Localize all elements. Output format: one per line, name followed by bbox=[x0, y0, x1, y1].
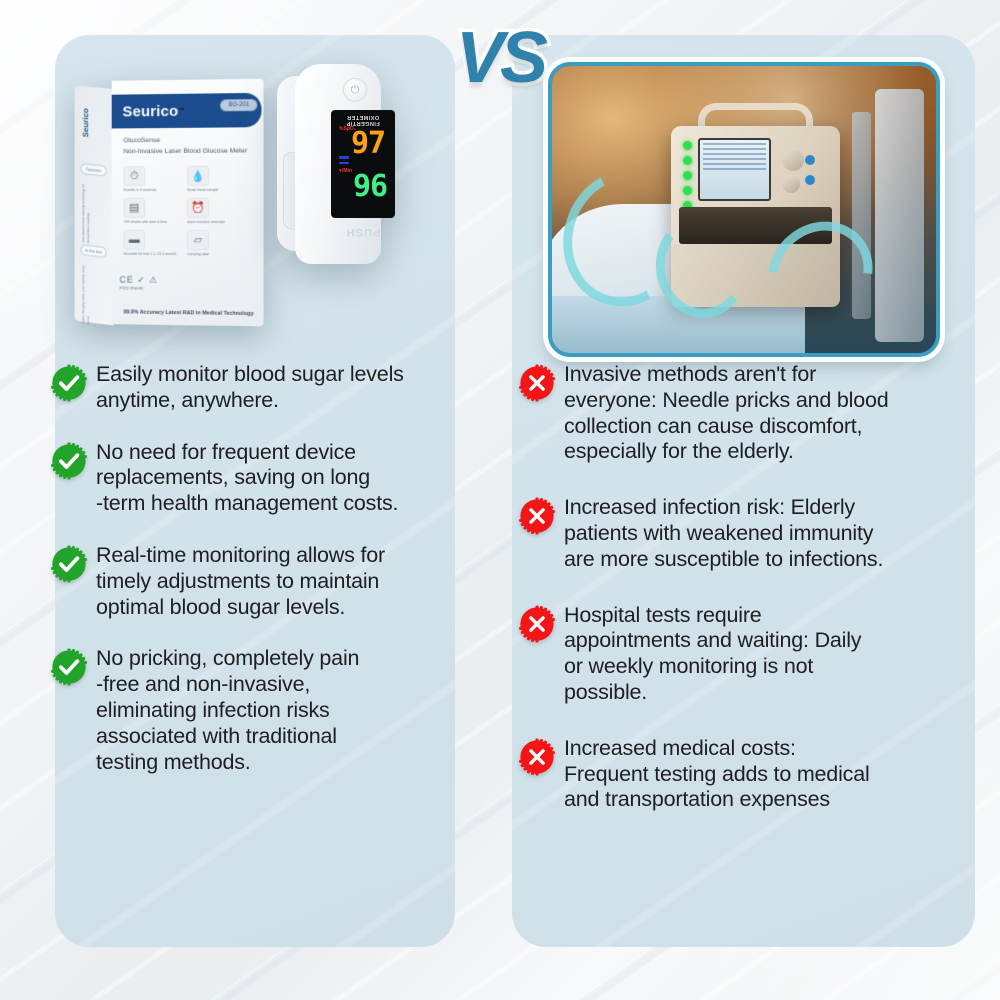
box-feature-label: 199 results with date & time bbox=[123, 220, 178, 225]
device-front-housing: ⏻ FINGERTIP OXIMETER %SpO₂ 97 ♥/Min 96 P… bbox=[295, 64, 381, 264]
green-check-badge-icon bbox=[50, 364, 88, 402]
product-line-name: GlucoSense bbox=[123, 135, 247, 146]
box-feature-item: ⏱ Results in 5 seconds bbox=[123, 166, 178, 193]
list-item-text: Easily monitor blood sugar levels anytim… bbox=[96, 362, 404, 414]
box-feature-item: ⏰ Alarm function reminder bbox=[187, 198, 243, 225]
monitor-screen bbox=[698, 138, 771, 201]
green-check-badge-icon bbox=[50, 545, 88, 583]
pros-list: Easily monitor blood sugar levels anytim… bbox=[50, 362, 460, 801]
list-item: No pricking, completely pain -free and n… bbox=[50, 646, 460, 775]
product-name-block: GlucoSense Non-Invasive Laser Blood Gluc… bbox=[123, 135, 247, 157]
model-number-badge: BG-201 bbox=[220, 99, 257, 112]
list-item-text: Real-time monitoring allows for timely a… bbox=[96, 543, 385, 620]
product-box: Seurico Features Non-invasive laser sens… bbox=[75, 79, 264, 327]
alarm-clock-icon: ⏰ bbox=[187, 198, 209, 218]
green-check-badge-icon bbox=[50, 442, 88, 480]
box-feature-item: ▱ Carrying case bbox=[187, 230, 243, 257]
box-side-pill-features: Features bbox=[80, 163, 106, 177]
list-item: Increased infection risk: Elderly patien… bbox=[518, 495, 973, 572]
box-side-text-features: Non-invasive laser sensing technology fo… bbox=[81, 183, 106, 245]
trademark-symbol: ™ bbox=[178, 108, 184, 114]
list-item: Hospital tests require appointments and … bbox=[518, 603, 973, 706]
test-strip-icon: ▬ bbox=[123, 230, 145, 250]
box-feature-label: Accurate for test 1.1–33.3 mmol/L bbox=[123, 251, 178, 256]
box-feature-item: 💧 Small blood sample bbox=[187, 166, 243, 193]
brand-name: Seurico bbox=[122, 102, 178, 120]
display-title: FINGERTIP OXIMETER bbox=[331, 114, 395, 126]
box-feature-grid: ⏱ Results in 5 seconds 💧 Small blood sam… bbox=[123, 166, 243, 257]
red-cross-badge-icon bbox=[518, 605, 556, 643]
blood-drop-icon: 💧 bbox=[187, 166, 209, 186]
monitor-status-leds bbox=[683, 141, 697, 216]
list-item-text: Increased medical costs: Frequent testin… bbox=[564, 736, 870, 813]
ce-mark-icon: CE ✓ ⚠ bbox=[120, 275, 159, 285]
product-box-side-panel: Seurico Features Non-invasive laser sens… bbox=[75, 85, 114, 325]
list-item-text: Hospital tests require appointments and … bbox=[564, 603, 861, 706]
box-feature-label: Carrying case bbox=[187, 252, 243, 257]
product-description: Non-Invasive Laser Blood Glucose Meter bbox=[123, 146, 247, 157]
red-cross-badge-icon bbox=[518, 738, 556, 776]
red-cross-badge-icon bbox=[518, 497, 556, 535]
iv-pole-equipment bbox=[875, 89, 925, 342]
box-side-logo: Seurico bbox=[81, 108, 90, 138]
box-accuracy-footer: 99.9% Accuracy Latest R&D in Medical Tec… bbox=[123, 308, 253, 318]
signal-bars-icon bbox=[339, 156, 349, 167]
box-feature-label: Results in 5 seconds bbox=[123, 188, 178, 193]
product-hero-left: Seurico Features Non-invasive laser sens… bbox=[55, 42, 455, 342]
hospital-equipment-photo bbox=[548, 62, 940, 357]
box-feature-item: ▤ 199 results with date & time bbox=[123, 198, 178, 225]
box-feature-label: Small blood sample bbox=[187, 188, 243, 193]
versus-badge: VS bbox=[430, 12, 570, 104]
box-side-text-inbox: Meter, charging cable, user manual, carr… bbox=[81, 264, 106, 326]
push-label: PUSH bbox=[331, 226, 395, 238]
certification-sublabel: FCC RoHS bbox=[120, 286, 159, 291]
box-feature-item: ▬ Accurate for test 1.1–33.3 mmol/L bbox=[123, 230, 178, 257]
fingertip-oximeter-device: ⏻ FINGERTIP OXIMETER %SpO₂ 97 ♥/Min 96 P… bbox=[277, 64, 397, 284]
comparison-infographic: Seurico Features Non-invasive laser sens… bbox=[0, 0, 1000, 1000]
pulse-value: 96 bbox=[353, 172, 387, 202]
pulse-label: ♥/Min bbox=[339, 168, 352, 174]
list-item: Easily monitor blood sugar levels anytim… bbox=[50, 362, 460, 414]
list-item: Invasive methods aren't for everyone: Ne… bbox=[518, 362, 973, 465]
carry-case-icon: ▱ bbox=[187, 230, 209, 250]
power-icon[interactable]: ⏻ bbox=[343, 78, 367, 102]
list-item: Real-time monitoring allows for timely a… bbox=[50, 543, 460, 620]
list-item-text: Increased infection risk: Elderly patien… bbox=[564, 495, 883, 572]
green-check-badge-icon bbox=[50, 648, 88, 686]
cons-list: Invasive methods aren't for everyone: Ne… bbox=[518, 362, 973, 843]
spo2-value: 97 bbox=[351, 129, 385, 159]
list-item-text: Invasive methods aren't for everyone: Ne… bbox=[564, 362, 888, 465]
list-item: No need for frequent device replacements… bbox=[50, 440, 460, 517]
list-item: Increased medical costs: Frequent testin… bbox=[518, 736, 973, 813]
device-display: FINGERTIP OXIMETER %SpO₂ 97 ♥/Min 96 bbox=[331, 110, 395, 218]
stopwatch-icon: ⏱ bbox=[123, 166, 145, 186]
red-cross-badge-icon bbox=[518, 364, 556, 402]
certification-marks: CE ✓ ⚠ FCC RoHS bbox=[120, 275, 159, 291]
memory-icon: ▤ bbox=[123, 198, 145, 218]
box-feature-label: Alarm function reminder bbox=[187, 220, 243, 225]
box-side-pill-inbox: In the box bbox=[80, 244, 106, 258]
list-item-text: No pricking, completely pain -free and n… bbox=[96, 646, 359, 775]
product-box-front-face: Seurico™ BG-201 GlucoSense Non-Invasive … bbox=[112, 79, 264, 327]
list-item-text: No need for frequent device replacements… bbox=[96, 440, 398, 517]
